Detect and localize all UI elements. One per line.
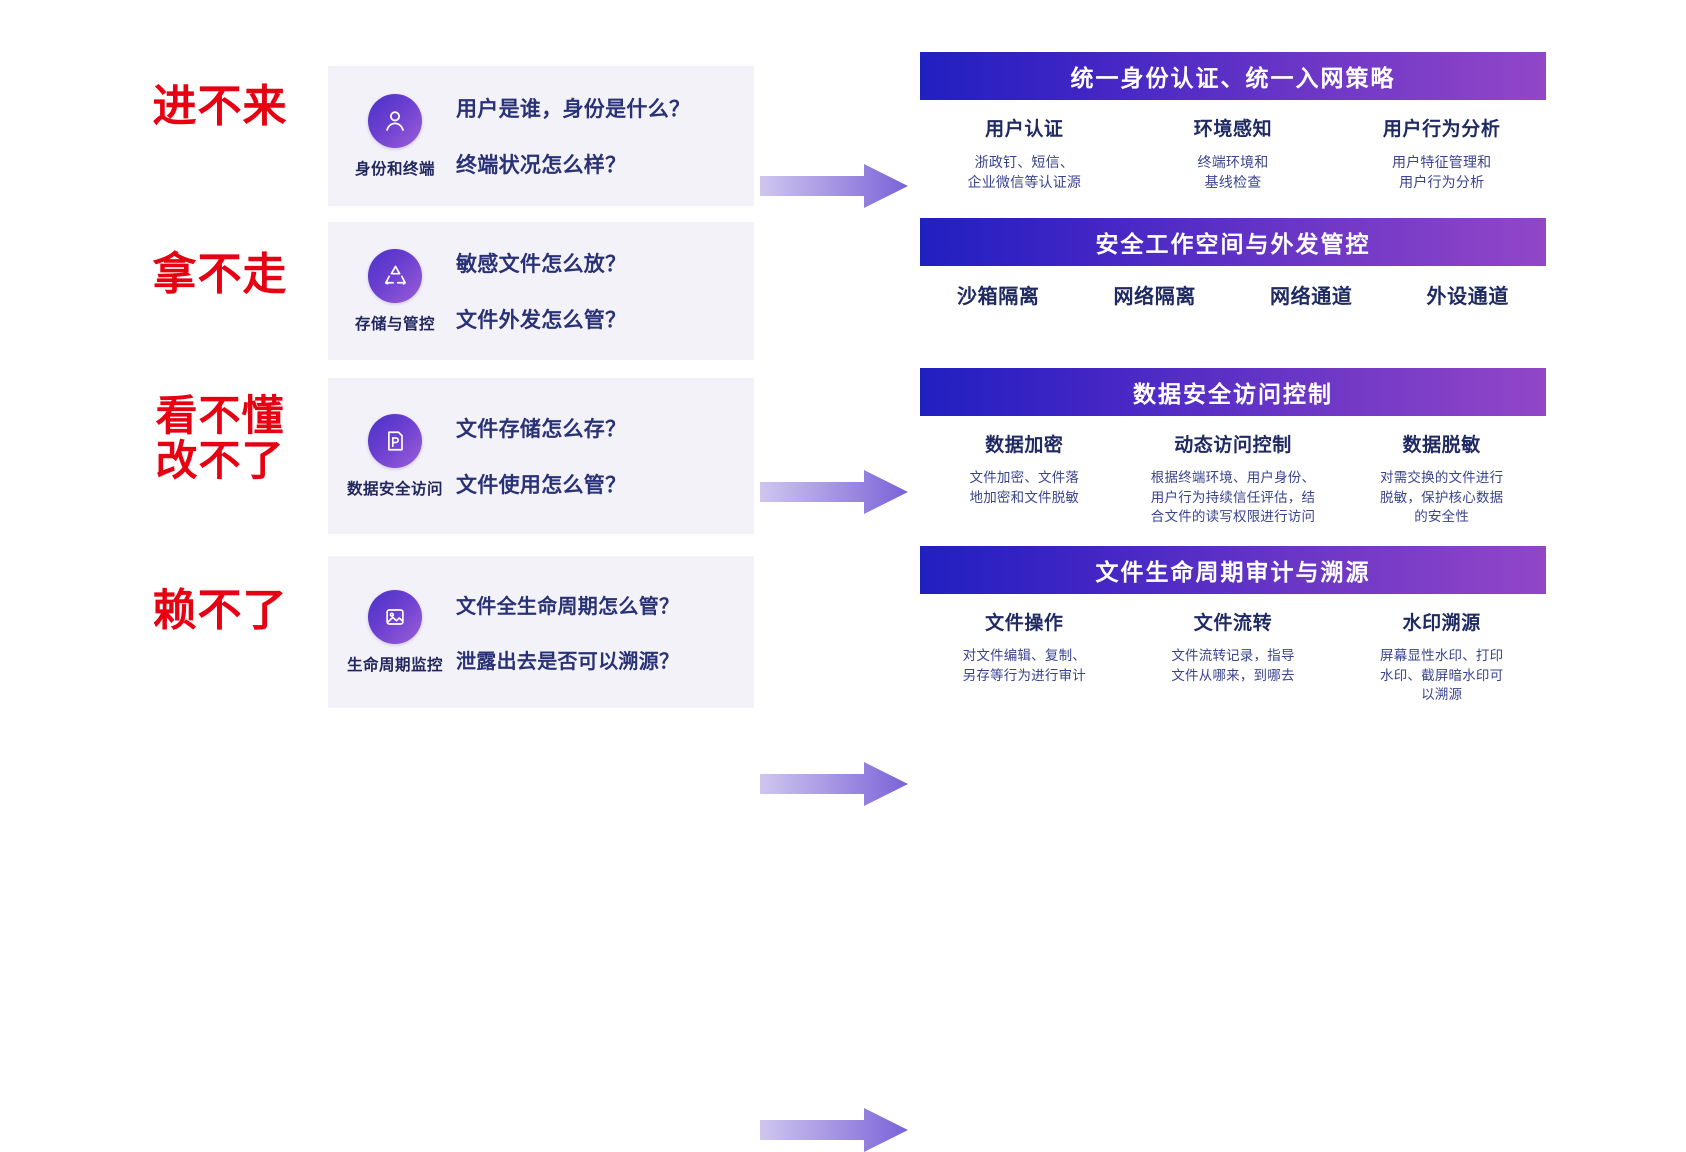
panel-identity: 统一身份认证、统一入网策略 用户认证 浙政钉、短信、企业微信等认证源 环境感知 … [920,52,1546,193]
panel-header: 数据安全访问控制 [920,368,1546,416]
panel-column-title: 文件流转 [1135,608,1332,635]
panel-column-title: 网络隔离 [1083,280,1228,309]
panel-column-desc: 对文件编辑、复制、另存等行为进行审计 [926,646,1123,685]
row-label-line: 看不懂 [120,394,320,439]
panel-column-title: 数据脱敏 [1343,430,1540,457]
panel-data-access: 数据安全访问控制 数据加密 文件加密、文件落地加密和文件脱敏 动态访问控制 根据… [920,368,1546,527]
card-identity[interactable]: 身份和终端 用户是谁，身份是什么？ 终端状况怎么样？ [328,66,754,206]
card-icon-group: 生命周期监控 [328,590,456,675]
panel-column-desc: 用户特征管理和用户行为分析 [1343,152,1540,193]
panel-column-desc: 文件流转记录，指导文件从哪来，到哪去 [1135,646,1332,685]
diagram-row-lifecycle: 赖不了 生命周期监控 文件全生命周期怎么管？ 泄露出去是否可以溯源？ [0,546,1686,706]
card-question: 泄露出去是否可以溯源？ [456,645,744,674]
card-question: 用户是谁，身份是什么？ [456,93,744,123]
panel-column-desc: 根据终端环境、用户身份、用户行为持续信任评估，结合文件的读写权限进行访问 [1135,468,1332,527]
panel-column: 数据脱敏 对需交换的文件进行脱敏，保护核心数据的安全性 [1337,430,1546,527]
panel-column-title: 网络通道 [1239,280,1384,309]
panel-columns: 文件操作 对文件编辑、复制、另存等行为进行审计 文件流转 文件流转记录，指导文件… [920,608,1546,705]
user-identity-icon [368,94,422,148]
panel-column-desc: 对需交换的文件进行脱敏，保护核心数据的安全性 [1343,468,1540,527]
row-label-line: 改不了 [120,439,320,484]
panel-header: 统一身份认证、统一入网策略 [920,52,1546,100]
panel-column-desc: 屏幕显性水印、打印水印、截屏暗水印可以溯源 [1343,646,1540,705]
panel-storage: 安全工作空间与外发管控 沙箱隔离 网络隔离 网络通道 外设通道 [920,218,1546,309]
row-label-line: 拿不走 [153,250,288,299]
panel-column: 网络通道 [1233,280,1390,309]
card-question: 终端状况怎么样？ [456,149,744,179]
card-question: 文件全生命周期怎么管？ [456,590,744,619]
row-label-line: 进不来 [153,82,288,131]
card-lifecycle[interactable]: 生命周期监控 文件全生命周期怎么管？ 泄露出去是否可以溯源？ [328,556,754,708]
panel-column-title: 用户行为分析 [1343,114,1540,141]
row-label-lifecycle: 赖不了 [120,588,320,635]
panel-column: 用户行为分析 用户特征管理和用户行为分析 [1337,114,1546,193]
flow-arrow-identity [760,164,908,208]
panel-column: 用户认证 浙政钉、短信、企业微信等认证源 [920,114,1129,193]
panel-header: 安全工作空间与外发管控 [920,218,1546,266]
card-questions: 文件全生命周期怎么管？ 泄露出去是否可以溯源？ [456,590,754,674]
panel-column: 网络隔离 [1077,280,1234,309]
row-label-line: 赖不了 [153,586,288,635]
panel-column-title: 水印溯源 [1343,608,1540,635]
diagram-row-identity: 进不来 身份和终端 用户是谁，身份是什么？ 终端状况怎么样？ [0,46,1686,206]
panel-column-desc: 终端环境和基线检查 [1135,152,1332,193]
card-question: 文件外发怎么管？ [456,304,744,334]
panel-column: 文件流转 文件流转记录，指导文件从哪来，到哪去 [1129,608,1338,705]
card-data-access[interactable]: 数据安全访问 文件存储怎么存？ 文件使用怎么管？ [328,378,754,534]
flow-arrow-data-access [760,762,908,806]
panel-lifecycle: 文件生命周期审计与溯源 文件操作 对文件编辑、复制、另存等行为进行审计 文件流转… [920,546,1546,705]
diagram-canvas: 进不来 身份和终端 用户是谁，身份是什么？ 终端状况怎么样？ [0,0,1686,780]
flow-arrow-lifecycle [760,1108,908,1152]
panel-column-title: 环境感知 [1135,114,1332,141]
lifecycle-monitor-icon [368,590,422,644]
card-icon-caption: 身份和终端 [355,157,435,179]
panel-column-title: 动态访问控制 [1135,430,1332,457]
panel-column-title: 外设通道 [1396,280,1541,309]
diagram-row-storage: 拿不走 存储与管控 敏感文件怎么放？ 文件外发怎么管？ [0,222,1686,362]
panel-column: 外设通道 [1390,280,1547,309]
card-question: 文件使用怎么管？ [456,469,744,499]
panel-column-desc: 浙政钉、短信、企业微信等认证源 [926,152,1123,193]
panel-column-title: 数据加密 [926,430,1123,457]
row-label-identity: 进不来 [120,84,320,131]
card-question: 文件存储怎么存？ [456,413,744,443]
card-icon-caption: 存储与管控 [355,312,435,334]
panel-column: 文件操作 对文件编辑、复制、另存等行为进行审计 [920,608,1129,705]
panel-column: 沙箱隔离 [920,280,1077,309]
card-icon-group: 数据安全访问 [328,414,456,499]
card-questions: 用户是谁，身份是什么？ 终端状况怎么样？ [456,93,754,179]
storage-control-icon [368,249,422,303]
panel-columns: 用户认证 浙政钉、短信、企业微信等认证源 环境感知 终端环境和基线检查 用户行为… [920,114,1546,193]
panel-column: 数据加密 文件加密、文件落地加密和文件脱敏 [920,430,1129,527]
card-icon-caption: 生命周期监控 [347,653,443,675]
row-label-data-access: 看不懂 改不了 [120,394,320,483]
panel-column-desc: 文件加密、文件落地加密和文件脱敏 [926,468,1123,507]
document-protect-icon [368,414,422,468]
card-icon-group: 身份和终端 [328,94,456,179]
panel-column-title: 用户认证 [926,114,1123,141]
card-question: 敏感文件怎么放？ [456,248,744,278]
diagram-row-data-access: 看不懂 改不了 数据安全访问 文件存储怎么存？ 文件使用怎么管？ [0,370,1686,530]
panel-header: 文件生命周期审计与溯源 [920,546,1546,594]
panel-column: 环境感知 终端环境和基线检查 [1129,114,1338,193]
panel-column-title: 文件操作 [926,608,1123,635]
panel-column: 水印溯源 屏幕显性水印、打印水印、截屏暗水印可以溯源 [1337,608,1546,705]
row-label-storage: 拿不走 [120,252,320,299]
panel-columns: 沙箱隔离 网络隔离 网络通道 外设通道 [920,280,1546,309]
card-icon-group: 存储与管控 [328,249,456,334]
card-questions: 敏感文件怎么放？ 文件外发怎么管？ [456,248,754,334]
panel-columns: 数据加密 文件加密、文件落地加密和文件脱敏 动态访问控制 根据终端环境、用户身份… [920,430,1546,527]
card-storage[interactable]: 存储与管控 敏感文件怎么放？ 文件外发怎么管？ [328,222,754,360]
panel-column: 动态访问控制 根据终端环境、用户身份、用户行为持续信任评估，结合文件的读写权限进… [1129,430,1338,527]
card-icon-caption: 数据安全访问 [347,477,443,499]
card-questions: 文件存储怎么存？ 文件使用怎么管？ [456,413,754,499]
panel-column-title: 沙箱隔离 [926,280,1071,309]
